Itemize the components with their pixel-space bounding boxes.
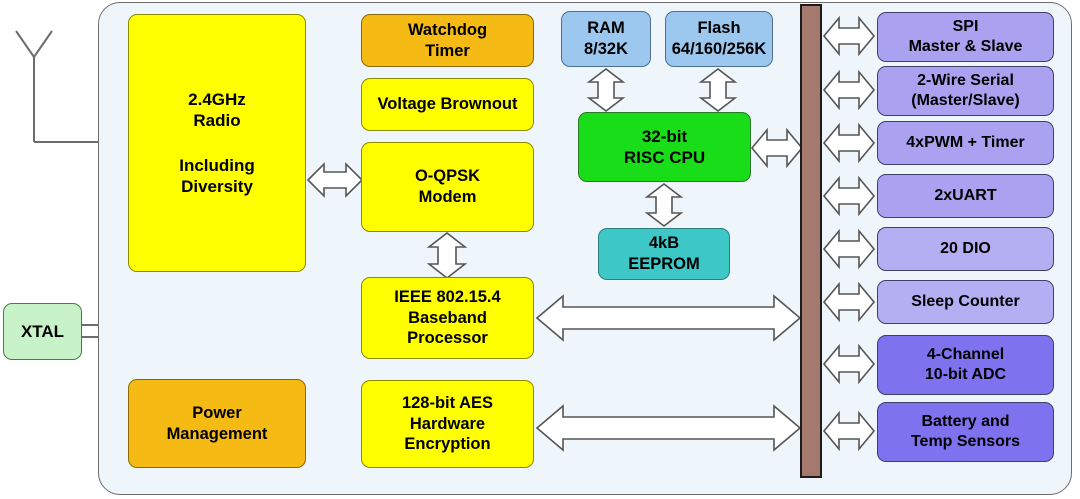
baseband-processor-block[interactable]: IEEE 802.15.4 Baseband Processor: [361, 277, 534, 359]
aes-encryption-block[interactable]: 128-bit AES Hardware Encryption: [361, 380, 534, 468]
peripheral-sensors-block[interactable]: Battery and Temp Sensors: [877, 402, 1054, 462]
peripheral-spi-block[interactable]: SPI Master & Slave: [877, 12, 1054, 62]
peripheral-adc-block[interactable]: 4-Channel 10-bit ADC: [877, 335, 1054, 395]
power-line-2: Management: [167, 424, 268, 445]
ram-line-1: RAM: [587, 18, 625, 39]
block-diagram-canvas: XTAL 2.4GHz Radio Including Diversity Wa…: [0, 0, 1080, 499]
arrow-cpu-eeprom: [644, 184, 684, 226]
arrow-bus-adc: [824, 340, 874, 388]
eeprom-line-2: EEPROM: [628, 254, 700, 275]
arrow-bus-pwm: [824, 119, 874, 167]
arrow-modem-baseband: [425, 233, 469, 278]
arrow-bus-uart: [824, 172, 874, 220]
arrow-radio-modem: [308, 154, 362, 206]
oqpsk-modem-block[interactable]: O-QPSK Modem: [361, 142, 534, 232]
arrow-bus-sleep-counter: [824, 278, 874, 326]
modem-line-2: Modem: [419, 187, 477, 208]
watchdog-timer-block[interactable]: Watchdog Timer: [361, 14, 534, 67]
sensors-line-1: Battery and: [921, 412, 1009, 432]
arrow-aes-bus: [537, 402, 800, 454]
flash-block[interactable]: Flash 64/160/256K: [665, 11, 773, 67]
power-management-block[interactable]: Power Management: [128, 379, 306, 468]
flash-line-2: 64/160/256K: [672, 39, 767, 60]
baseband-line-1: IEEE 802.15.4: [394, 287, 500, 308]
dio-label: 20 DIO: [940, 239, 991, 259]
radio-line-3: Including: [179, 155, 255, 176]
radio-line-1: 2.4GHz: [188, 89, 246, 110]
arrow-baseband-bus: [537, 292, 800, 344]
arrow-flash-cpu: [698, 69, 738, 111]
adc-line-1: 4-Channel: [927, 345, 1004, 365]
xtal-block[interactable]: XTAL: [3, 303, 82, 360]
voltage-brownout-label: Voltage Brownout: [378, 94, 518, 115]
peripheral-2wire-serial-block[interactable]: 2-Wire Serial (Master/Slave): [877, 66, 1054, 116]
peripheral-bus-bar: [800, 4, 822, 478]
aes-line-1: 128-bit AES: [402, 393, 493, 414]
cpu-line-1: 32-bit: [642, 126, 687, 147]
ram-line-2: 8/32K: [584, 39, 628, 60]
peripheral-pwm-timer-block[interactable]: 4xPWM + Timer: [877, 121, 1054, 165]
modem-line-1: O-QPSK: [415, 166, 480, 187]
peripheral-dio-block[interactable]: 20 DIO: [877, 227, 1054, 271]
arrow-cpu-bus: [752, 124, 802, 172]
baseband-line-3: Processor: [407, 328, 488, 349]
xtal-label: XTAL: [21, 321, 64, 342]
power-line-1: Power: [192, 403, 242, 424]
ram-block[interactable]: RAM 8/32K: [561, 11, 651, 67]
pwm-label: 4xPWM + Timer: [906, 133, 1024, 153]
uart-label: 2xUART: [934, 186, 996, 206]
radio-line-4: Diversity: [181, 176, 253, 197]
watchdog-line-2: Timer: [425, 41, 470, 62]
sleep-counter-label: Sleep Counter: [911, 292, 1019, 312]
arrow-bus-dio: [824, 225, 874, 273]
peripheral-sleep-counter-block[interactable]: Sleep Counter: [877, 280, 1054, 324]
aes-line-3: Encryption: [404, 434, 490, 455]
radio-block[interactable]: 2.4GHz Radio Including Diversity: [128, 14, 306, 272]
eeprom-block[interactable]: 4kB EEPROM: [598, 228, 730, 280]
eeprom-line-1: 4kB: [649, 233, 679, 254]
aes-line-2: Hardware: [410, 414, 485, 435]
arrow-ram-cpu: [586, 69, 626, 111]
watchdog-line-1: Watchdog: [408, 20, 487, 41]
peripheral-uart-block[interactable]: 2xUART: [877, 174, 1054, 218]
twowire-line-2: (Master/Slave): [911, 91, 1020, 111]
arrow-bus-2wire: [824, 66, 874, 114]
flash-line-1: Flash: [697, 18, 740, 39]
sensors-line-2: Temp Sensors: [911, 432, 1020, 452]
arrow-bus-sensors: [824, 407, 874, 455]
radio-line-2: Radio: [193, 110, 240, 131]
cpu-line-2: RISC CPU: [624, 147, 705, 168]
spi-line-2: Master & Slave: [909, 37, 1023, 57]
arrow-bus-spi: [824, 12, 874, 60]
spi-line-1: SPI: [953, 17, 979, 37]
adc-line-2: 10-bit ADC: [925, 365, 1006, 385]
voltage-brownout-block[interactable]: Voltage Brownout: [361, 78, 534, 131]
risc-cpu-block[interactable]: 32-bit RISC CPU: [578, 112, 751, 182]
baseband-line-2: Baseband: [408, 308, 487, 329]
twowire-line-1: 2-Wire Serial: [917, 71, 1014, 91]
